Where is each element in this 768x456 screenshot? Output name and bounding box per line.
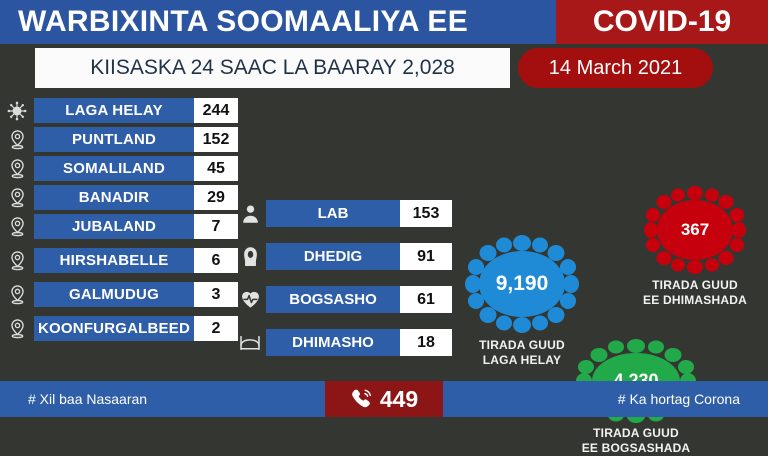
total-recovered-caption-line2: EE BOGSASHADA — [552, 441, 720, 456]
table-row: DHEDIG 91 — [234, 243, 452, 270]
map-pin-icon — [0, 216, 34, 237]
table-row: DHIMASHO 18 — [234, 329, 452, 356]
total-deaths-caption-line2: EE DHIMASHADA — [622, 293, 768, 308]
daily-summary-banner: KIISASKA 24 SAAC LA BAARAY 2,028 — [35, 48, 510, 88]
table-row: BOGSASHO 61 — [234, 286, 452, 313]
demographic-label: BOGSASHO — [266, 286, 400, 313]
region-label: SOMALILAND — [34, 156, 194, 181]
map-pin-icon — [0, 250, 34, 271]
table-row: BANADIR 29 — [0, 185, 238, 210]
region-label: GALMUDUG — [34, 282, 194, 307]
demographic-value: 91 — [400, 243, 452, 270]
map-pin-icon — [0, 284, 34, 305]
region-label: LAGA HELAY — [34, 98, 194, 123]
report-date-badge: 14 March 2021 — [518, 48, 713, 88]
region-value: 6 — [194, 248, 238, 273]
region-value: 3 — [194, 282, 238, 307]
female-hijab-icon — [234, 246, 266, 267]
region-label: BANADIR — [34, 185, 194, 210]
virus-icon — [0, 101, 34, 121]
region-value: 45 — [194, 156, 238, 181]
table-row: JUBALAND 7 — [0, 214, 238, 239]
table-row: LAGA HELAY 244 — [0, 98, 238, 123]
region-label: HIRSHABELLE — [34, 248, 194, 273]
page-header: WARBIXINTA SOOMAALIYA EE COVID-19 — [0, 0, 768, 44]
page-footer: # Xil baa Nasaaran 449 # Ka hortag Coron… — [0, 381, 768, 417]
demographic-value: 153 — [400, 200, 452, 227]
total-recovered-caption: TIRADA GUUD EE BOGSASHADA — [552, 426, 720, 456]
region-value: 29 — [194, 185, 238, 210]
total-deaths-caption: TIRADA GUUD EE DHIMASHADA — [622, 278, 768, 308]
table-row: KOONFURGALBEED 2 — [0, 316, 238, 341]
table-row: PUNTLAND 152 — [0, 127, 238, 152]
page-title: WARBIXINTA SOOMAALIYA EE — [18, 5, 468, 39]
region-label: JUBALAND — [34, 214, 194, 239]
region-value: 2 — [194, 316, 238, 341]
total-recovered-caption-line1: TIRADA GUUD — [552, 426, 720, 441]
header-accent-block: COVID-19 — [556, 0, 768, 44]
region-value: 152 — [194, 127, 238, 152]
total-deaths-caption-line1: TIRADA GUUD — [622, 278, 768, 293]
dashboard-body: LAGA HELAY 244 PUNTLAND 152 — [0, 92, 768, 381]
map-pin-icon — [0, 158, 34, 179]
hospital-bed-icon — [234, 333, 266, 352]
demographic-label: LAB — [266, 200, 400, 227]
blue-virus-icon: 9,190 — [452, 232, 592, 336]
table-row: GALMUDUG 3 — [0, 282, 238, 307]
map-pin-icon — [0, 187, 34, 208]
total-deaths-bubble: 367 TIRADA GUUD EE DHIMASHADA — [622, 184, 768, 308]
demographic-value: 18 — [400, 329, 452, 356]
daily-summary-text: KIISASKA 24 SAAC LA BAARAY 2,028 — [90, 56, 455, 80]
region-stats-list: LAGA HELAY 244 PUNTLAND 152 — [0, 98, 238, 345]
hotline-number: 449 — [380, 386, 418, 413]
subheader: KIISASKA 24 SAAC LA BAARAY 2,028 14 Marc… — [0, 44, 768, 92]
table-row: SOMALILAND 45 — [0, 156, 238, 181]
demographic-value: 61 — [400, 286, 452, 313]
phone-icon — [350, 387, 374, 411]
footer-right-hashtag: # Ka hortag Corona — [443, 391, 768, 407]
demographic-label: DHEDIG — [266, 243, 400, 270]
page-title-accent: COVID-19 — [593, 5, 731, 39]
demographic-stats-list: LAB 153 DHEDIG 91 BOGSASHO 61 — [234, 200, 452, 372]
table-row: LAB 153 — [234, 200, 452, 227]
header-title-block: WARBIXINTA SOOMAALIYA EE — [0, 0, 556, 44]
region-value: 7 — [194, 214, 238, 239]
hotline-badge[interactable]: 449 — [325, 381, 443, 417]
region-value: 244 — [194, 98, 238, 123]
region-label: PUNTLAND — [34, 127, 194, 152]
demographic-label: DHIMASHO — [266, 329, 400, 356]
map-pin-icon — [0, 129, 34, 150]
report-date-text: 14 March 2021 — [549, 57, 682, 80]
map-pin-icon — [0, 318, 34, 339]
table-row: HIRSHABELLE 6 — [0, 248, 238, 273]
male-person-icon — [234, 203, 266, 224]
footer-left-hashtag: # Xil baa Nasaaran — [0, 391, 325, 407]
region-label: KOONFURGALBEED — [34, 316, 194, 341]
heart-pulse-icon — [234, 289, 266, 310]
red-virus-icon: 367 — [622, 184, 768, 276]
